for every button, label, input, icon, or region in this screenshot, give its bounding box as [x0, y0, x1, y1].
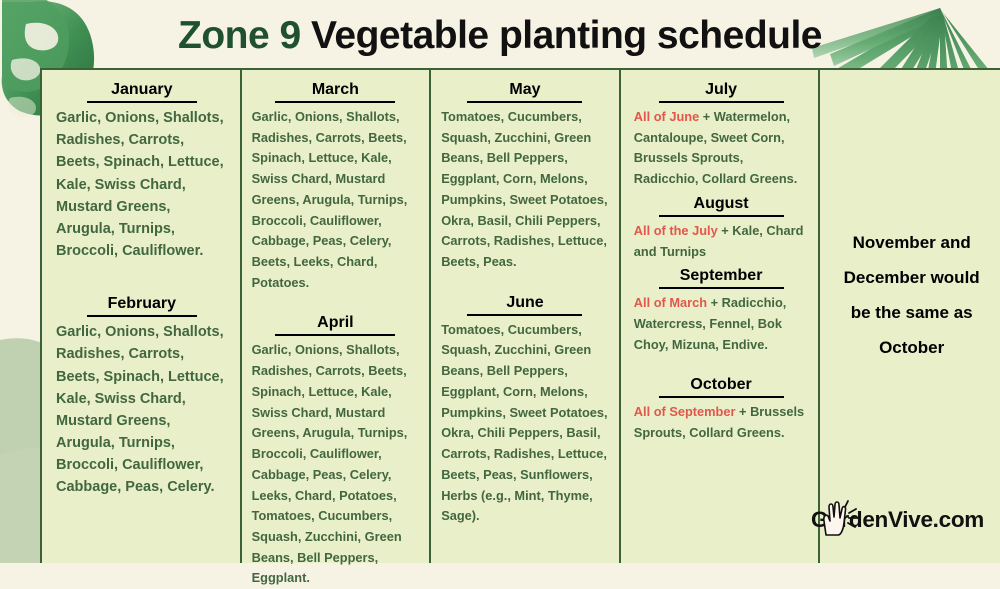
heading-rule	[467, 101, 582, 103]
heading-rule	[87, 315, 197, 317]
plant-list-may: Tomatoes, Cucumbers, Squash, Zucchini, G…	[441, 107, 609, 273]
plant-list-august: All of the July + Kale, Chard and Turnip…	[634, 221, 809, 262]
month-heading-january: January	[56, 80, 228, 100]
month-heading-september: September	[634, 266, 809, 286]
schedule-column-1: January Garlic, Onions, Shallots, Radish…	[42, 70, 242, 563]
spacer	[56, 264, 228, 290]
title-zone-highlight: Zone 9	[178, 14, 301, 57]
pointing-hand-click-icon	[812, 497, 864, 537]
plus-sign: +	[718, 223, 733, 238]
month-heading-july: July	[634, 80, 809, 100]
schedule-column-4: July All of June + Watermelon, Cantaloup…	[621, 70, 821, 563]
heading-rule	[659, 101, 784, 103]
heading-rule	[659, 215, 784, 217]
plus-sign: +	[735, 404, 750, 419]
month-heading-august: August	[634, 194, 809, 214]
heading-rule	[275, 101, 395, 103]
title-bar: Zone 9 Vegetable planting schedule	[0, 6, 1000, 66]
plant-list-february: Garlic, Onions, Shallots, Radishes, Carr…	[56, 321, 228, 498]
schedule-column-5: November and December would be the same …	[820, 70, 1000, 563]
carryover-june: All of June	[634, 109, 699, 124]
spacer	[252, 295, 420, 309]
brand-wordmark[interactable]: GardenVive.com	[811, 507, 984, 533]
carryover-july: All of the July	[634, 223, 718, 238]
plus-sign: +	[699, 109, 714, 124]
title-rest: Vegetable planting schedule	[301, 14, 822, 57]
heading-rule	[467, 314, 582, 316]
plant-list-october: All of September + Brussels Sprouts, Col…	[634, 402, 809, 443]
month-heading-may: May	[441, 80, 609, 100]
month-heading-april: April	[252, 313, 420, 333]
spacer	[441, 275, 609, 289]
planting-schedule-table: January Garlic, Onions, Shallots, Radish…	[40, 68, 1000, 563]
spacer	[634, 357, 809, 371]
plant-list-july: All of June + Watermelon, Cantaloupe, Sw…	[634, 107, 809, 190]
month-heading-october: October	[634, 375, 809, 395]
month-heading-march: March	[252, 80, 420, 100]
plus-sign: +	[707, 295, 722, 310]
month-heading-february: February	[56, 294, 228, 314]
plant-list-june: Tomatoes, Cucumbers, Squash, Zucchini, G…	[441, 320, 609, 527]
heading-rule	[275, 334, 395, 336]
plant-list-march: Garlic, Onions, Shallots, Radishes, Carr…	[252, 107, 420, 293]
carryover-september: All of September	[634, 404, 736, 419]
november-december-note: November and December would be the same …	[833, 226, 990, 365]
heading-rule	[87, 101, 197, 103]
heading-rule	[659, 287, 784, 289]
page-title: Zone 9 Vegetable planting schedule	[178, 14, 822, 58]
month-heading-june: June	[441, 293, 609, 313]
plant-list-april: Garlic, Onions, Shallots, Radishes, Carr…	[252, 340, 420, 589]
carryover-march: All of March	[634, 295, 707, 310]
heading-rule	[659, 396, 784, 398]
schedule-column-3: May Tomatoes, Cucumbers, Squash, Zucchin…	[431, 70, 621, 563]
schedule-column-2: March Garlic, Onions, Shallots, Radishes…	[242, 70, 432, 563]
plant-list-january: Garlic, Onions, Shallots, Radishes, Carr…	[56, 107, 228, 262]
plant-list-september: All of March + Radicchio, Watercress, Fe…	[634, 293, 809, 355]
